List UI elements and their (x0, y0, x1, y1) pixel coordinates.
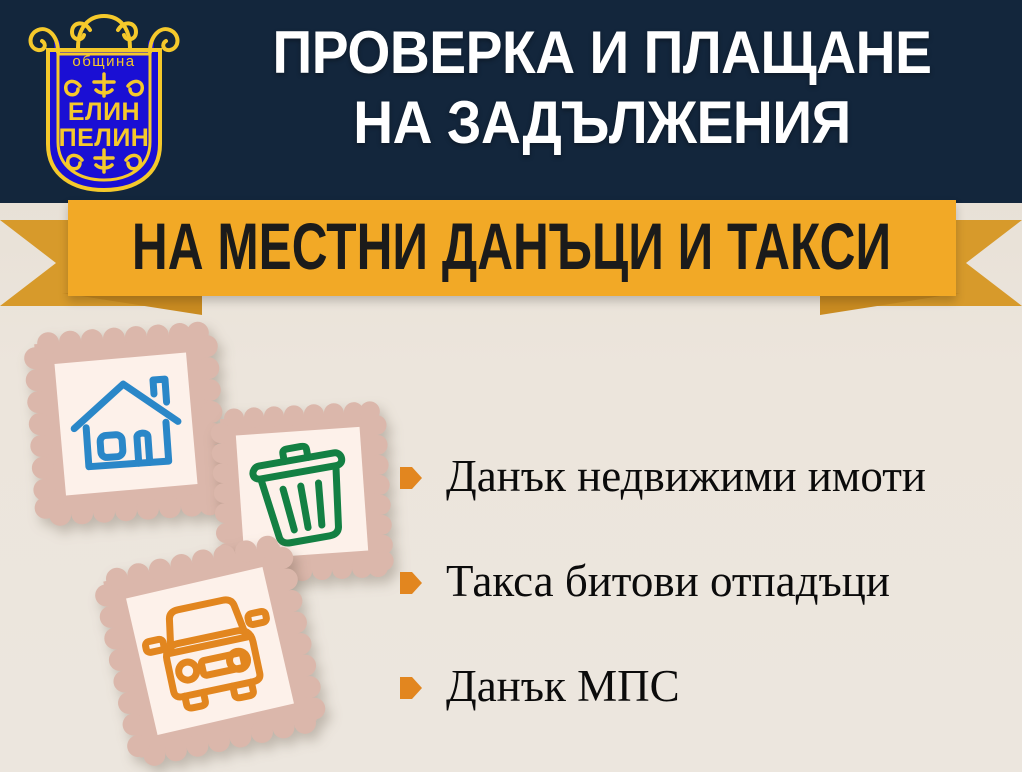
crest-label-top: община (72, 53, 135, 70)
list-item[interactable]: Такса битови отпадъци (400, 529, 1010, 634)
stamp-card-car (92, 533, 328, 769)
list-item[interactable]: Данък недвижими имоти (400, 424, 1010, 529)
ribbon-banner: НА МЕСТНИ ДАНЪЦИ И ТАКСИ (0, 196, 1022, 326)
list-item[interactable]: Данък МПС (400, 634, 1010, 739)
arrow-bullet-icon (400, 570, 422, 596)
coat-of-arms-icon: община ЕЛИН ПЕЛИН (18, 8, 190, 194)
arrow-bullet-icon (400, 675, 422, 701)
page-title-line1: ПРОВЕРКА И ПЛАЩАНЕ (228, 18, 975, 88)
ribbon-subtitle: НА МЕСТНИ ДАНЪЦИ И ТАКСИ (132, 215, 891, 281)
page-title: ПРОВЕРКА И ПЛАЩАНЕ НА ЗАДЪЛЖЕНИЯ (228, 18, 975, 158)
list-item-label: Такса битови отпадъци (446, 559, 890, 604)
ribbon-main-panel: НА МЕСТНИ ДАНЪЦИ И ТАКСИ (68, 200, 956, 296)
tax-list: Данък недвижими имоти Такса битови отпад… (400, 424, 1010, 739)
list-item-label: Данък МПС (446, 664, 680, 709)
poster-canvas: община ЕЛИН ПЕЛИН ПРОВЕРКА И ПЛАЩАНЕ НА … (0, 0, 1022, 772)
crest-name-line2: ПЕЛИН (59, 124, 150, 152)
crest-name-line1: ЕЛИН (68, 98, 140, 126)
list-item-label: Данък недвижими имоти (446, 454, 926, 499)
page-title-line2: НА ЗАДЪЛЖЕНИЯ (228, 88, 975, 158)
arrow-bullet-icon (400, 465, 422, 491)
